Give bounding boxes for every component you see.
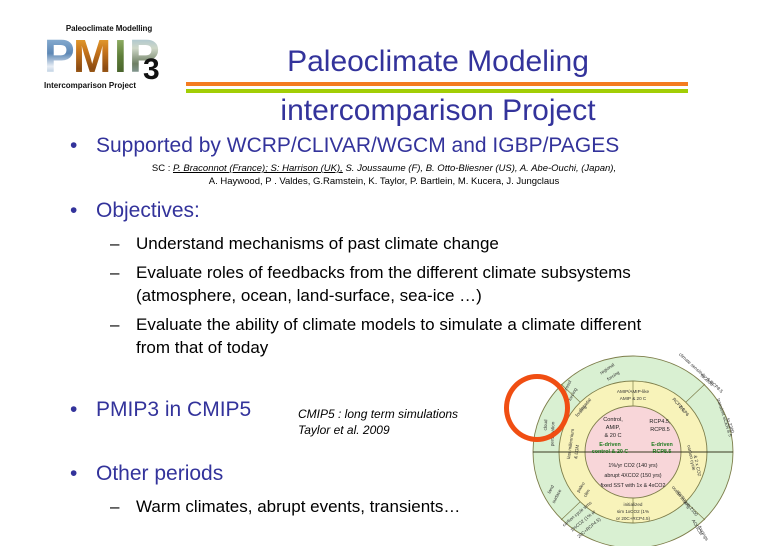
objectives-colon: :: [194, 199, 200, 222]
dash-marker: –: [110, 313, 119, 336]
svg-text:E-driven: E-driven: [651, 442, 673, 448]
svg-text:3: 3: [143, 53, 160, 80]
title-line-1: Paleoclimate Modeling: [186, 44, 690, 79]
bullet-supported-by: • Supported by WCRP/CLIVAR/WGCM and IGBP…: [60, 133, 720, 159]
svg-text:AMIP & 20 C: AMIP & 20 C: [620, 396, 647, 401]
svg-text:Control,: Control,: [603, 417, 623, 423]
dash-marker: –: [110, 495, 119, 518]
svg-text:& 20 C: & 20 C: [604, 433, 621, 439]
logo-bottom-text: Intercomparison Project: [44, 81, 172, 90]
cmip5-diagram: Control, AMIP, & 20 C RCP4.5, RCP8.5 E-d…: [500, 340, 766, 546]
svg-text:fixed SST with 1x & 4xCO2: fixed SST with 1x & 4xCO2: [601, 483, 666, 489]
sc-prefix: SC :: [152, 163, 173, 174]
annotation-highlight-circle: [504, 374, 570, 442]
svg-text:M: M: [73, 34, 111, 80]
cmip5-caption-line-2: Taylor et al. 2009: [298, 422, 458, 438]
svg-text:abrupt 4XCO2 (150 yrs): abrupt 4XCO2 (150 yrs): [604, 473, 661, 479]
bullet-marker: •: [70, 397, 77, 423]
logo-letters: P M I P 3: [44, 34, 172, 80]
svg-text:I: I: [114, 34, 127, 80]
sc-members-line-2: A. Haywood, P . Valdes, G.Ramstein, K. T…: [84, 175, 684, 188]
svg-text:control & 20 C: control & 20 C: [592, 449, 629, 455]
bullet-marker: •: [70, 198, 77, 224]
sc-underlined-names: P. Braconnot (France); S: Harrison (UK),: [173, 163, 343, 174]
svg-text:initialized: initialized: [624, 502, 643, 507]
bullet-objectives-label: Objectives: [96, 199, 194, 222]
logo-top-text: Paleoclimate Modelling: [44, 24, 172, 33]
title-line-2: intercomparison Project: [186, 93, 690, 128]
objective-text: Evaluate roles of feedbacks from the dif…: [136, 263, 631, 305]
bullet-objectives: • Objectives:: [60, 198, 720, 224]
svg-text:sim 1xCO2 (1%: sim 1xCO2 (1%: [617, 509, 649, 514]
dash-marker: –: [110, 261, 119, 284]
sc-line1-rest: S. Joussaume (F), B. Otto-Bliesner (US),…: [343, 163, 616, 174]
other-periods-text: Warm climates, abrupt events, transients…: [136, 497, 460, 516]
presentation-slide: Paleoclimate Modelling: [0, 0, 768, 543]
svg-text:RCP4.5,: RCP4.5,: [649, 419, 671, 425]
svg-text:RCP8.5: RCP8.5: [653, 449, 672, 455]
svg-text:or 20C+RCP4.5): or 20C+RCP4.5): [616, 516, 651, 521]
objective-item-2: – Evaluate roles of feedbacks from the d…: [60, 261, 636, 307]
svg-text:AMIP/AMIP-like: AMIP/AMIP-like: [617, 389, 650, 394]
svg-text:E-driven: E-driven: [599, 442, 621, 448]
pmip3-logo: Paleoclimate Modelling: [44, 24, 172, 96]
objective-item-1: – Understand mechanisms of past climate …: [60, 232, 720, 255]
bullet-pmip3-in-cmip5-label: PMIP3 in CMIP5: [96, 398, 251, 421]
bullet-marker: •: [70, 461, 77, 487]
title-rule-orange: [186, 82, 688, 86]
title-rule-green: [186, 89, 688, 93]
objective-text: Understand mechanisms of past climate ch…: [136, 234, 499, 253]
svg-text:P: P: [44, 34, 75, 80]
sc-members: SC : P. Braconnot (France); S: Harrison …: [84, 162, 684, 188]
svg-text:AMIP,: AMIP,: [606, 425, 621, 431]
slide-title: Paleoclimate Modeling intercomparison Pr…: [186, 44, 690, 128]
bullet-supported-by-label: Supported by WCRP/CLIVAR/WGCM and IGBP/P…: [96, 134, 619, 157]
cmip5-caption-line-1: CMIP5 : long term simulations: [298, 406, 458, 422]
cmip5-caption: CMIP5 : long term simulations Taylor et …: [298, 406, 458, 438]
bullet-other-periods-label: Other periods: [96, 462, 223, 485]
dash-marker: –: [110, 232, 119, 255]
bullet-marker: •: [70, 133, 77, 159]
sc-members-line-1: SC : P. Braconnot (France); S: Harrison …: [84, 162, 684, 175]
svg-text:1%/yr CO2 (140 yrs): 1%/yr CO2 (140 yrs): [608, 463, 657, 469]
svg-text:RCP8.5: RCP8.5: [650, 427, 670, 433]
